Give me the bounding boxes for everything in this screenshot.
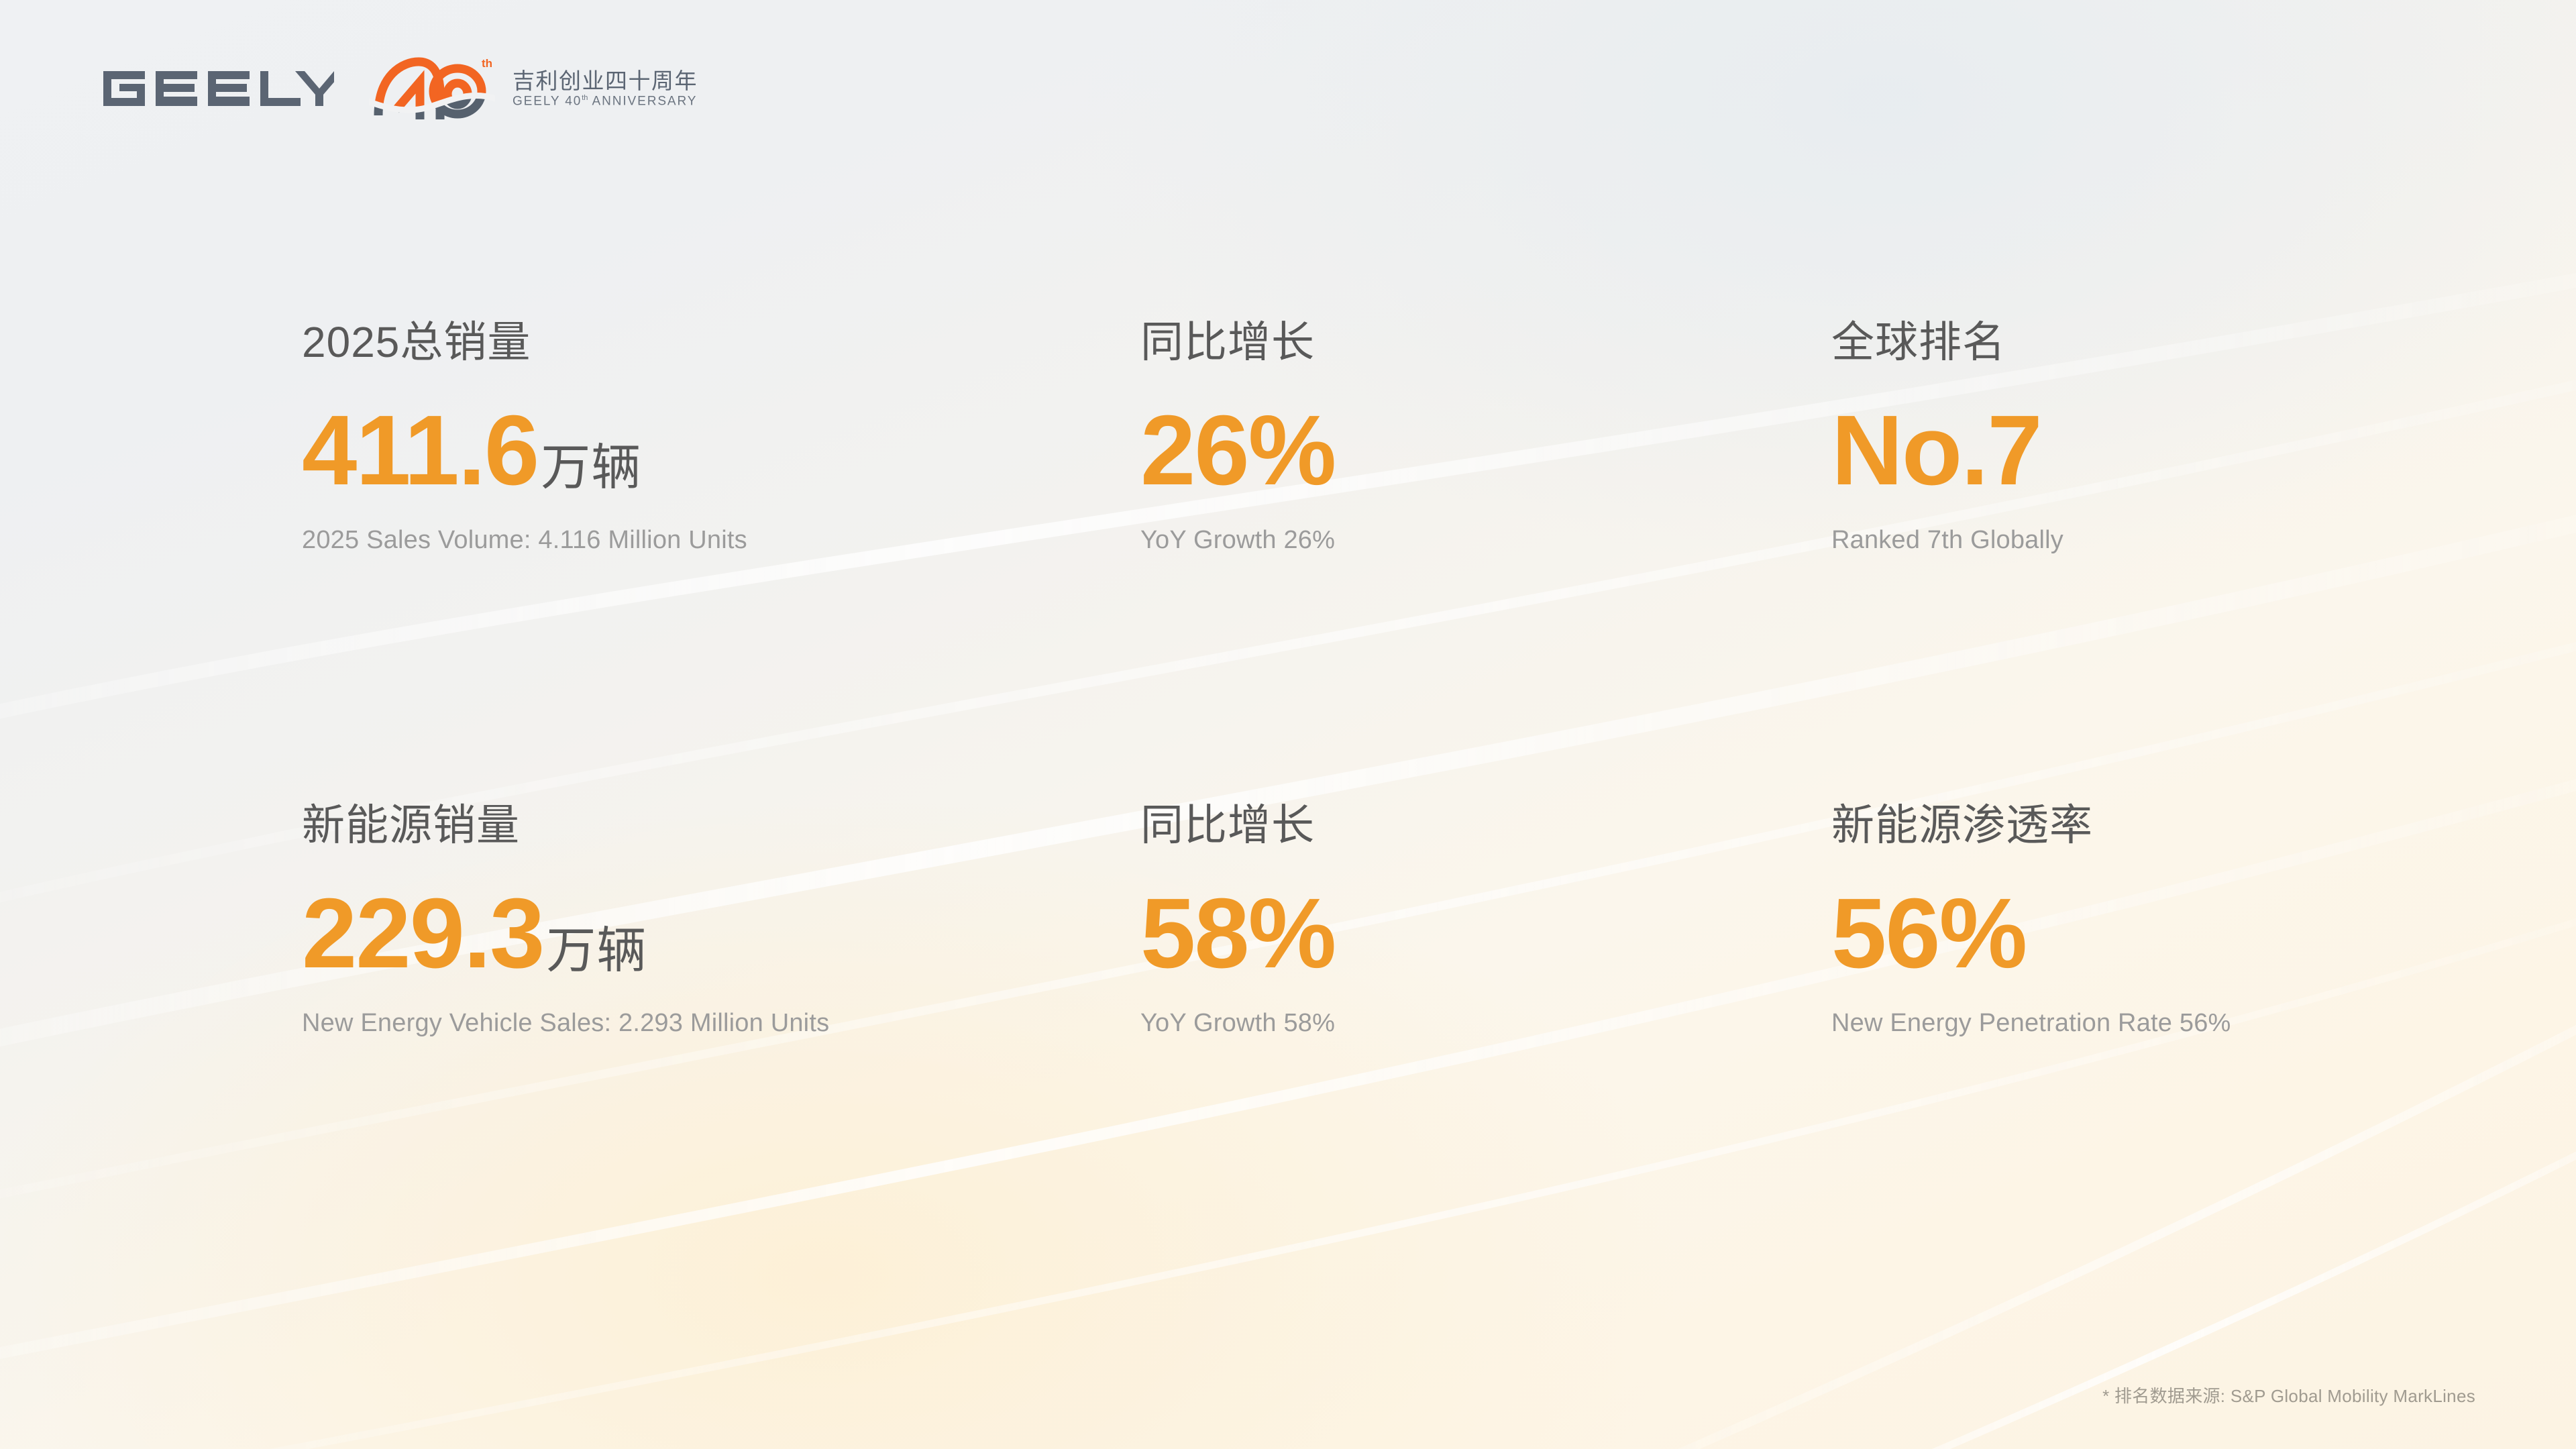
metric-card-total-sales: 2025总销量 411.6 万辆 2025 Sales Volume: 4.11… xyxy=(302,321,1140,804)
anniversary-title-en: GEELY 40th ANNIVERSARY xyxy=(513,95,698,107)
metric-value: 56% xyxy=(1831,884,2422,983)
metric-label: 同比增长 xyxy=(1140,321,1831,364)
metric-unit: 万辆 xyxy=(546,926,647,975)
anniversary-en-prefix: GEELY 40 xyxy=(513,94,582,108)
metric-value: No.7 xyxy=(1831,401,2422,500)
metric-caption: New Energy Penetration Rate 56% xyxy=(1831,1010,2422,1036)
metric-number: 411.6 xyxy=(302,401,538,500)
anniversary-text-block: 吉利创业四十周年 GEELY 40th ANNIVERSARY xyxy=(513,70,698,107)
anniversary-en-suffix: ANNIVERSARY xyxy=(588,94,697,108)
metric-label: 同比增长 xyxy=(1140,804,1831,847)
metric-label: 新能源销量 xyxy=(302,804,1140,847)
metric-number: 56% xyxy=(1831,884,2026,983)
svg-text:th: th xyxy=(482,57,492,70)
metric-number: 26% xyxy=(1140,401,1335,500)
metric-caption: 2025 Sales Volume: 4.116 Million Units xyxy=(302,527,1140,553)
metrics-grid: 2025总销量 411.6 万辆 2025 Sales Volume: 4.11… xyxy=(302,321,2422,1036)
metric-value: 411.6 万辆 xyxy=(302,401,1140,500)
metric-value: 58% xyxy=(1140,884,1831,983)
metric-label: 2025总销量 xyxy=(302,321,1140,364)
brand-header: th 吉利创业四十周年 GEELY 40th ANNIVERSARY xyxy=(98,52,698,125)
anniversary-lockup: th 吉利创业四十周年 GEELY 40th ANNIVERSARY xyxy=(369,52,698,125)
data-source-footnote: * 排名数据来源: S&P Global Mobility MarkLines xyxy=(2102,1383,2475,1407)
metric-card-yoy-growth-nev: 同比增长 58% YoY Growth 58% xyxy=(1140,804,1831,1036)
metric-number: No.7 xyxy=(1831,401,2041,500)
anniversary-title-cn: 吉利创业四十周年 xyxy=(513,70,698,92)
metric-number: 58% xyxy=(1140,884,1335,983)
metric-label: 新能源渗透率 xyxy=(1831,804,2422,847)
metric-caption: Ranked 7th Globally xyxy=(1831,527,2422,553)
metric-card-nev-sales: 新能源销量 229.3 万辆 New Energy Vehicle Sales:… xyxy=(302,804,1140,1036)
metric-caption: New Energy Vehicle Sales: 2.293 Million … xyxy=(302,1010,1140,1036)
geely-wordmark xyxy=(98,64,334,113)
metric-value: 26% xyxy=(1140,401,1831,500)
slide-canvas: th 吉利创业四十周年 GEELY 40th ANNIVERSARY 2025总… xyxy=(0,0,2576,1449)
anniversary-40-icon: th xyxy=(369,52,495,125)
metric-card-global-ranking: 全球排名 No.7 Ranked 7th Globally xyxy=(1831,321,2422,804)
metric-number: 229.3 xyxy=(302,884,543,983)
metric-caption: YoY Growth 58% xyxy=(1140,1010,1831,1036)
metric-card-yoy-growth-total: 同比增长 26% YoY Growth 26% xyxy=(1140,321,1831,804)
metric-label: 全球排名 xyxy=(1831,321,2422,364)
metric-unit: 万辆 xyxy=(541,443,641,492)
metric-caption: YoY Growth 26% xyxy=(1140,527,1831,553)
metric-value: 229.3 万辆 xyxy=(302,884,1140,983)
metric-card-nev-penetration: 新能源渗透率 56% New Energy Penetration Rate 5… xyxy=(1831,804,2422,1036)
